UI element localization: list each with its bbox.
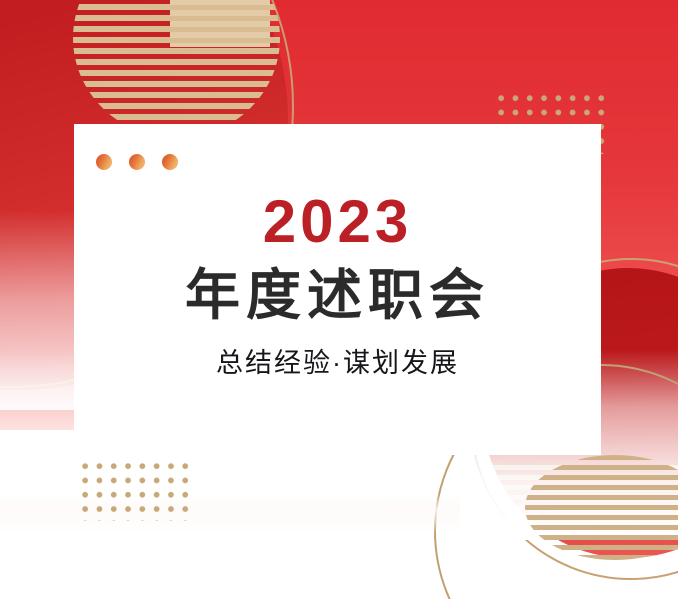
year-label: 2023 — [263, 192, 412, 252]
poster-canvas: 2023 年度述职会 总结经验·谋划发展 — [0, 0, 678, 599]
content-card: 2023 年度述职会 总结经验·谋划发展 — [74, 124, 601, 455]
bottom-left-dot-pattern — [78, 459, 194, 521]
card-text-block: 2023 年度述职会 总结经验·谋划发展 — [74, 124, 601, 455]
page-subtitle: 总结经验·谋划发展 — [216, 347, 459, 379]
page-title: 年度述职会 — [185, 266, 490, 325]
top-striped-circle-secondary — [170, 0, 270, 47]
bottom-white-wash — [0, 494, 460, 534]
